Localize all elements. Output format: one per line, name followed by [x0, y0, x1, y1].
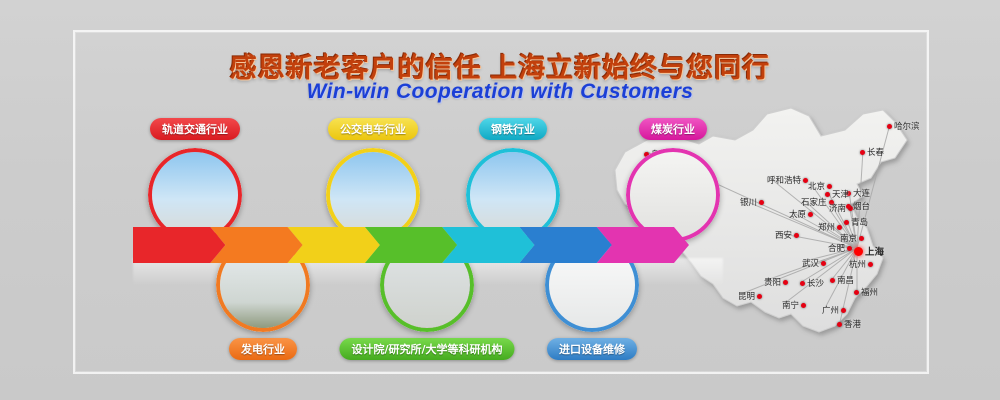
- map-city-marker: 香港: [837, 318, 861, 330]
- map-city-marker: 太原: [789, 208, 813, 220]
- map-city-marker: 武汉: [802, 257, 826, 269]
- city-label: 南昌: [837, 274, 854, 286]
- city-label: 银川: [740, 196, 757, 208]
- city-label: 青岛: [851, 216, 868, 228]
- city-label: 大连: [853, 187, 870, 199]
- city-dot-icon: [803, 178, 808, 183]
- page-title-en: Win-win Cooperation with Customers: [0, 80, 1000, 104]
- city-label: 呼和浩特: [767, 174, 801, 186]
- map-city-marker: 杭州: [849, 258, 873, 270]
- city-label: 香港: [844, 318, 861, 330]
- city-label: 武汉: [802, 257, 819, 269]
- city-dot-icon: [757, 294, 762, 299]
- city-label: 广州: [822, 304, 839, 316]
- city-label: 南宁: [782, 299, 799, 311]
- city-label: 西安: [775, 229, 792, 241]
- city-label: 福州: [861, 286, 878, 298]
- city-dot-icon: [868, 262, 873, 267]
- city-dot-icon: [846, 204, 851, 209]
- city-dot-icon: [860, 150, 865, 155]
- industry-label-power: 发电行业: [229, 338, 297, 360]
- map-city-marker: 合肥: [828, 242, 852, 254]
- city-dot-icon: [844, 220, 849, 225]
- city-dot-icon: [859, 236, 864, 241]
- map-city-marker: 昆明: [738, 290, 762, 302]
- city-dot-icon: [847, 246, 852, 251]
- city-label: 烟台: [853, 200, 870, 212]
- city-label: 济南: [829, 202, 846, 214]
- city-label: 郑州: [818, 221, 835, 233]
- city-dot-icon: [800, 281, 805, 286]
- industry-label-imports: 进口设备维修: [547, 338, 637, 360]
- city-label: 贵阳: [764, 276, 781, 288]
- map-hub-marker: 上海: [854, 244, 884, 258]
- city-dot-icon: [837, 322, 842, 327]
- train-icon: [152, 152, 238, 238]
- city-label: 太原: [789, 208, 806, 220]
- industry-label-coal: 煤炭行业: [639, 118, 707, 140]
- city-label: 长沙: [807, 277, 824, 289]
- industry-label-steel: 钢铁行业: [479, 118, 547, 140]
- city-dot-icon: [783, 280, 788, 285]
- city-dot-icon: [759, 200, 764, 205]
- city-dot-icon: [837, 225, 842, 230]
- city-dot-icon: [841, 308, 846, 313]
- banner-stage: 上海哈尔滨长春大连北京天津呼和浩特石家庄济南烟台太原青岛银川乌鲁木齐郑州西安南京…: [0, 0, 1000, 400]
- city-label: 长春: [867, 146, 884, 158]
- city-dot-icon: [830, 278, 835, 283]
- map-city-marker: 广州: [822, 304, 846, 316]
- blast-furnace-icon: [470, 152, 556, 238]
- city-label: 天津: [832, 188, 849, 200]
- city-dot-icon: [808, 212, 813, 217]
- city-label: 合肥: [828, 242, 845, 254]
- industry-label-rail: 轨道交通行业: [150, 118, 240, 140]
- city-label: 昆明: [738, 290, 755, 302]
- city-dot-icon: [854, 290, 859, 295]
- map-city-marker: 银川: [740, 196, 764, 208]
- map-city-marker: 福州: [854, 286, 878, 298]
- map-city-marker: 南昌: [830, 274, 854, 286]
- map-city-marker: 青岛: [844, 216, 868, 228]
- city-label: 北京: [808, 180, 825, 192]
- industry-label-research: 设计院/研究所/大学等科研机构: [339, 338, 514, 360]
- map-city-marker: 长沙: [800, 277, 824, 289]
- city-label: 石家庄: [801, 196, 827, 208]
- bus-pavilion-icon: [330, 152, 416, 238]
- map-city-marker: 南宁: [782, 299, 806, 311]
- industry-label-bus: 公交电车行业: [328, 118, 418, 140]
- map-city-marker: 郑州: [818, 221, 842, 233]
- city-label: 哈尔滨: [894, 120, 920, 132]
- map-city-marker: 大连: [846, 187, 870, 199]
- city-label: 杭州: [849, 258, 866, 270]
- map-city-marker: 西安: [775, 229, 799, 241]
- map-city-marker: 呼和浩特: [767, 174, 808, 186]
- arrow-band: [133, 227, 723, 263]
- city-dot-icon: [821, 261, 826, 266]
- city-dot-icon: [794, 233, 799, 238]
- map-city-marker: 哈尔滨: [887, 120, 920, 132]
- mine-derrick-icon: [630, 152, 716, 238]
- city-dot-icon: [854, 247, 863, 256]
- map-city-marker: 贵阳: [764, 276, 788, 288]
- map-city-marker: 长春: [860, 146, 884, 158]
- arrow-band-segment-0: [133, 227, 225, 263]
- city-dot-icon: [887, 124, 892, 129]
- city-label: 上海: [865, 244, 884, 258]
- city-dot-icon: [801, 303, 806, 308]
- map-city-marker: 烟台: [846, 200, 870, 212]
